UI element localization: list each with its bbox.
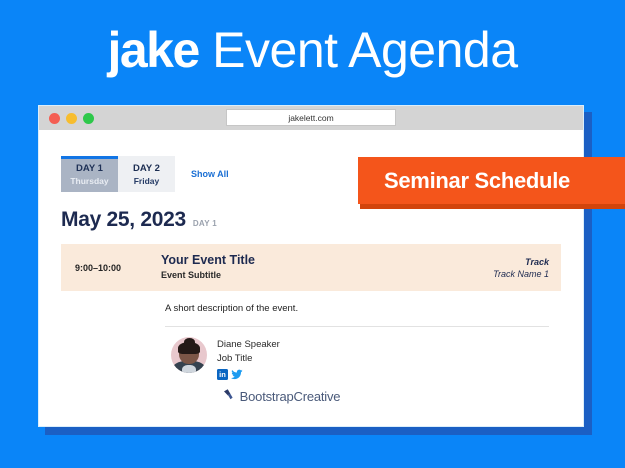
minimize-button[interactable] [66, 113, 77, 124]
tab-day-1-label: DAY 1 [61, 162, 118, 175]
twitter-icon[interactable] [231, 369, 243, 380]
tab-day-1[interactable]: DAY 1 Thursday [61, 156, 118, 192]
bootstrapcreative-mark-icon [224, 387, 237, 405]
speaker-socials: in [217, 369, 280, 380]
browser-window: jakelett.com DAY 1 Thursday DAY 2 Friday… [38, 105, 584, 427]
close-button[interactable] [49, 113, 60, 124]
url-text: jakelett.com [288, 113, 333, 123]
avatar [171, 337, 207, 373]
linkedin-icon[interactable]: in [217, 369, 228, 380]
event-row[interactable]: 9:00–10:00 Your Event Title Event Subtit… [61, 244, 561, 291]
brand-name: jake [107, 22, 198, 78]
event-description: A short description of the event. [165, 303, 549, 314]
footer-logo: BootstrapCreative [165, 387, 549, 405]
date-heading: May 25, 2023 DAY 1 [61, 208, 561, 232]
maximize-button[interactable] [83, 113, 94, 124]
hero-header: jake Event Agenda [0, 0, 625, 100]
event-subtitle: Event Subtitle [161, 269, 493, 282]
detail-divider [165, 326, 549, 327]
tab-day-2-label: DAY 2 [118, 162, 175, 175]
screenshot-canvas: jake Event Agenda jakelett.com DAY 1 Thu… [0, 0, 625, 468]
date-text: May 25, 2023 [61, 208, 186, 232]
event-track: Track Track Name 1 [493, 256, 549, 280]
browser-titlebar: jakelett.com [39, 106, 583, 130]
seminar-banner-label: Seminar Schedule [384, 168, 570, 194]
speaker-info: Diane Speaker Job Title in [217, 337, 280, 380]
event-time: 9:00–10:00 [75, 263, 161, 273]
track-name: Track Name 1 [493, 268, 549, 280]
window-controls [49, 113, 94, 124]
address-bar[interactable]: jakelett.com [226, 109, 396, 126]
footer-logo-text: BootstrapCreative [240, 389, 341, 404]
speaker-block: Diane Speaker Job Title in [165, 337, 549, 380]
event-detail: A short description of the event. Diane … [61, 303, 561, 405]
page-title: jake Event Agenda [107, 25, 517, 75]
seminar-banner: Seminar Schedule [358, 157, 625, 204]
speaker-job-title: Job Title [217, 352, 280, 366]
tab-day-2[interactable]: DAY 2 Friday [118, 156, 175, 192]
speaker-name: Diane Speaker [217, 338, 280, 352]
tab-day-2-weekday: Friday [118, 175, 175, 187]
date-day-label: DAY 1 [193, 219, 217, 228]
track-label: Track [493, 256, 549, 268]
show-all-link[interactable]: Show All [191, 169, 229, 179]
event-main: Your Event Title Event Subtitle [161, 253, 493, 282]
event-title: Your Event Title [161, 253, 493, 268]
tab-day-1-weekday: Thursday [61, 175, 118, 187]
page-title-text: Event Agenda [199, 22, 518, 78]
